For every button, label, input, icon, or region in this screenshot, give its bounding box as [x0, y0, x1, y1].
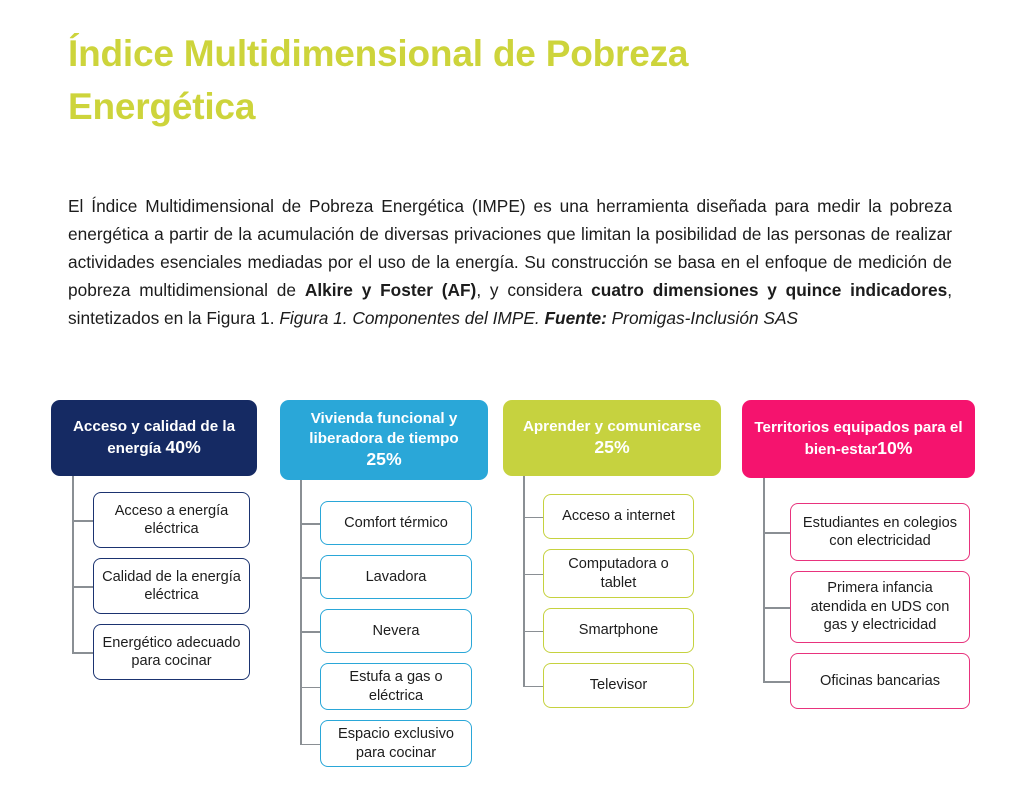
- connector-branch: [763, 607, 790, 609]
- connector-trunk: [763, 478, 765, 681]
- connector-branch: [763, 532, 790, 534]
- indicator-box[interactable]: Estudiantes en colegios con electricidad: [790, 503, 970, 561]
- indicator-box[interactable]: Primera infancia atendida en UDS con gas…: [790, 571, 970, 643]
- indicator-box[interactable]: Oficinas bancarias: [790, 653, 970, 709]
- indicator-label: Primera infancia atendida en UDS con gas…: [798, 579, 962, 634]
- diagram-column-territorios-equipados: Territorios equipados para el bien-estar…: [0, 0, 1024, 787]
- impe-components-diagram: Acceso y calidad de la energía 40%Acceso…: [0, 0, 1024, 787]
- indicator-label: Oficinas bancarias: [820, 672, 940, 690]
- dimension-header-territorios-equipados[interactable]: Territorios equipados para el bien-estar…: [742, 400, 975, 478]
- connector-branch: [763, 681, 790, 683]
- dimension-header-label: Territorios equipados para el bien-estar: [754, 419, 962, 458]
- indicator-label: Estudiantes en colegios con electricidad: [798, 514, 962, 551]
- dimension-header-weight: 10%: [877, 438, 912, 458]
